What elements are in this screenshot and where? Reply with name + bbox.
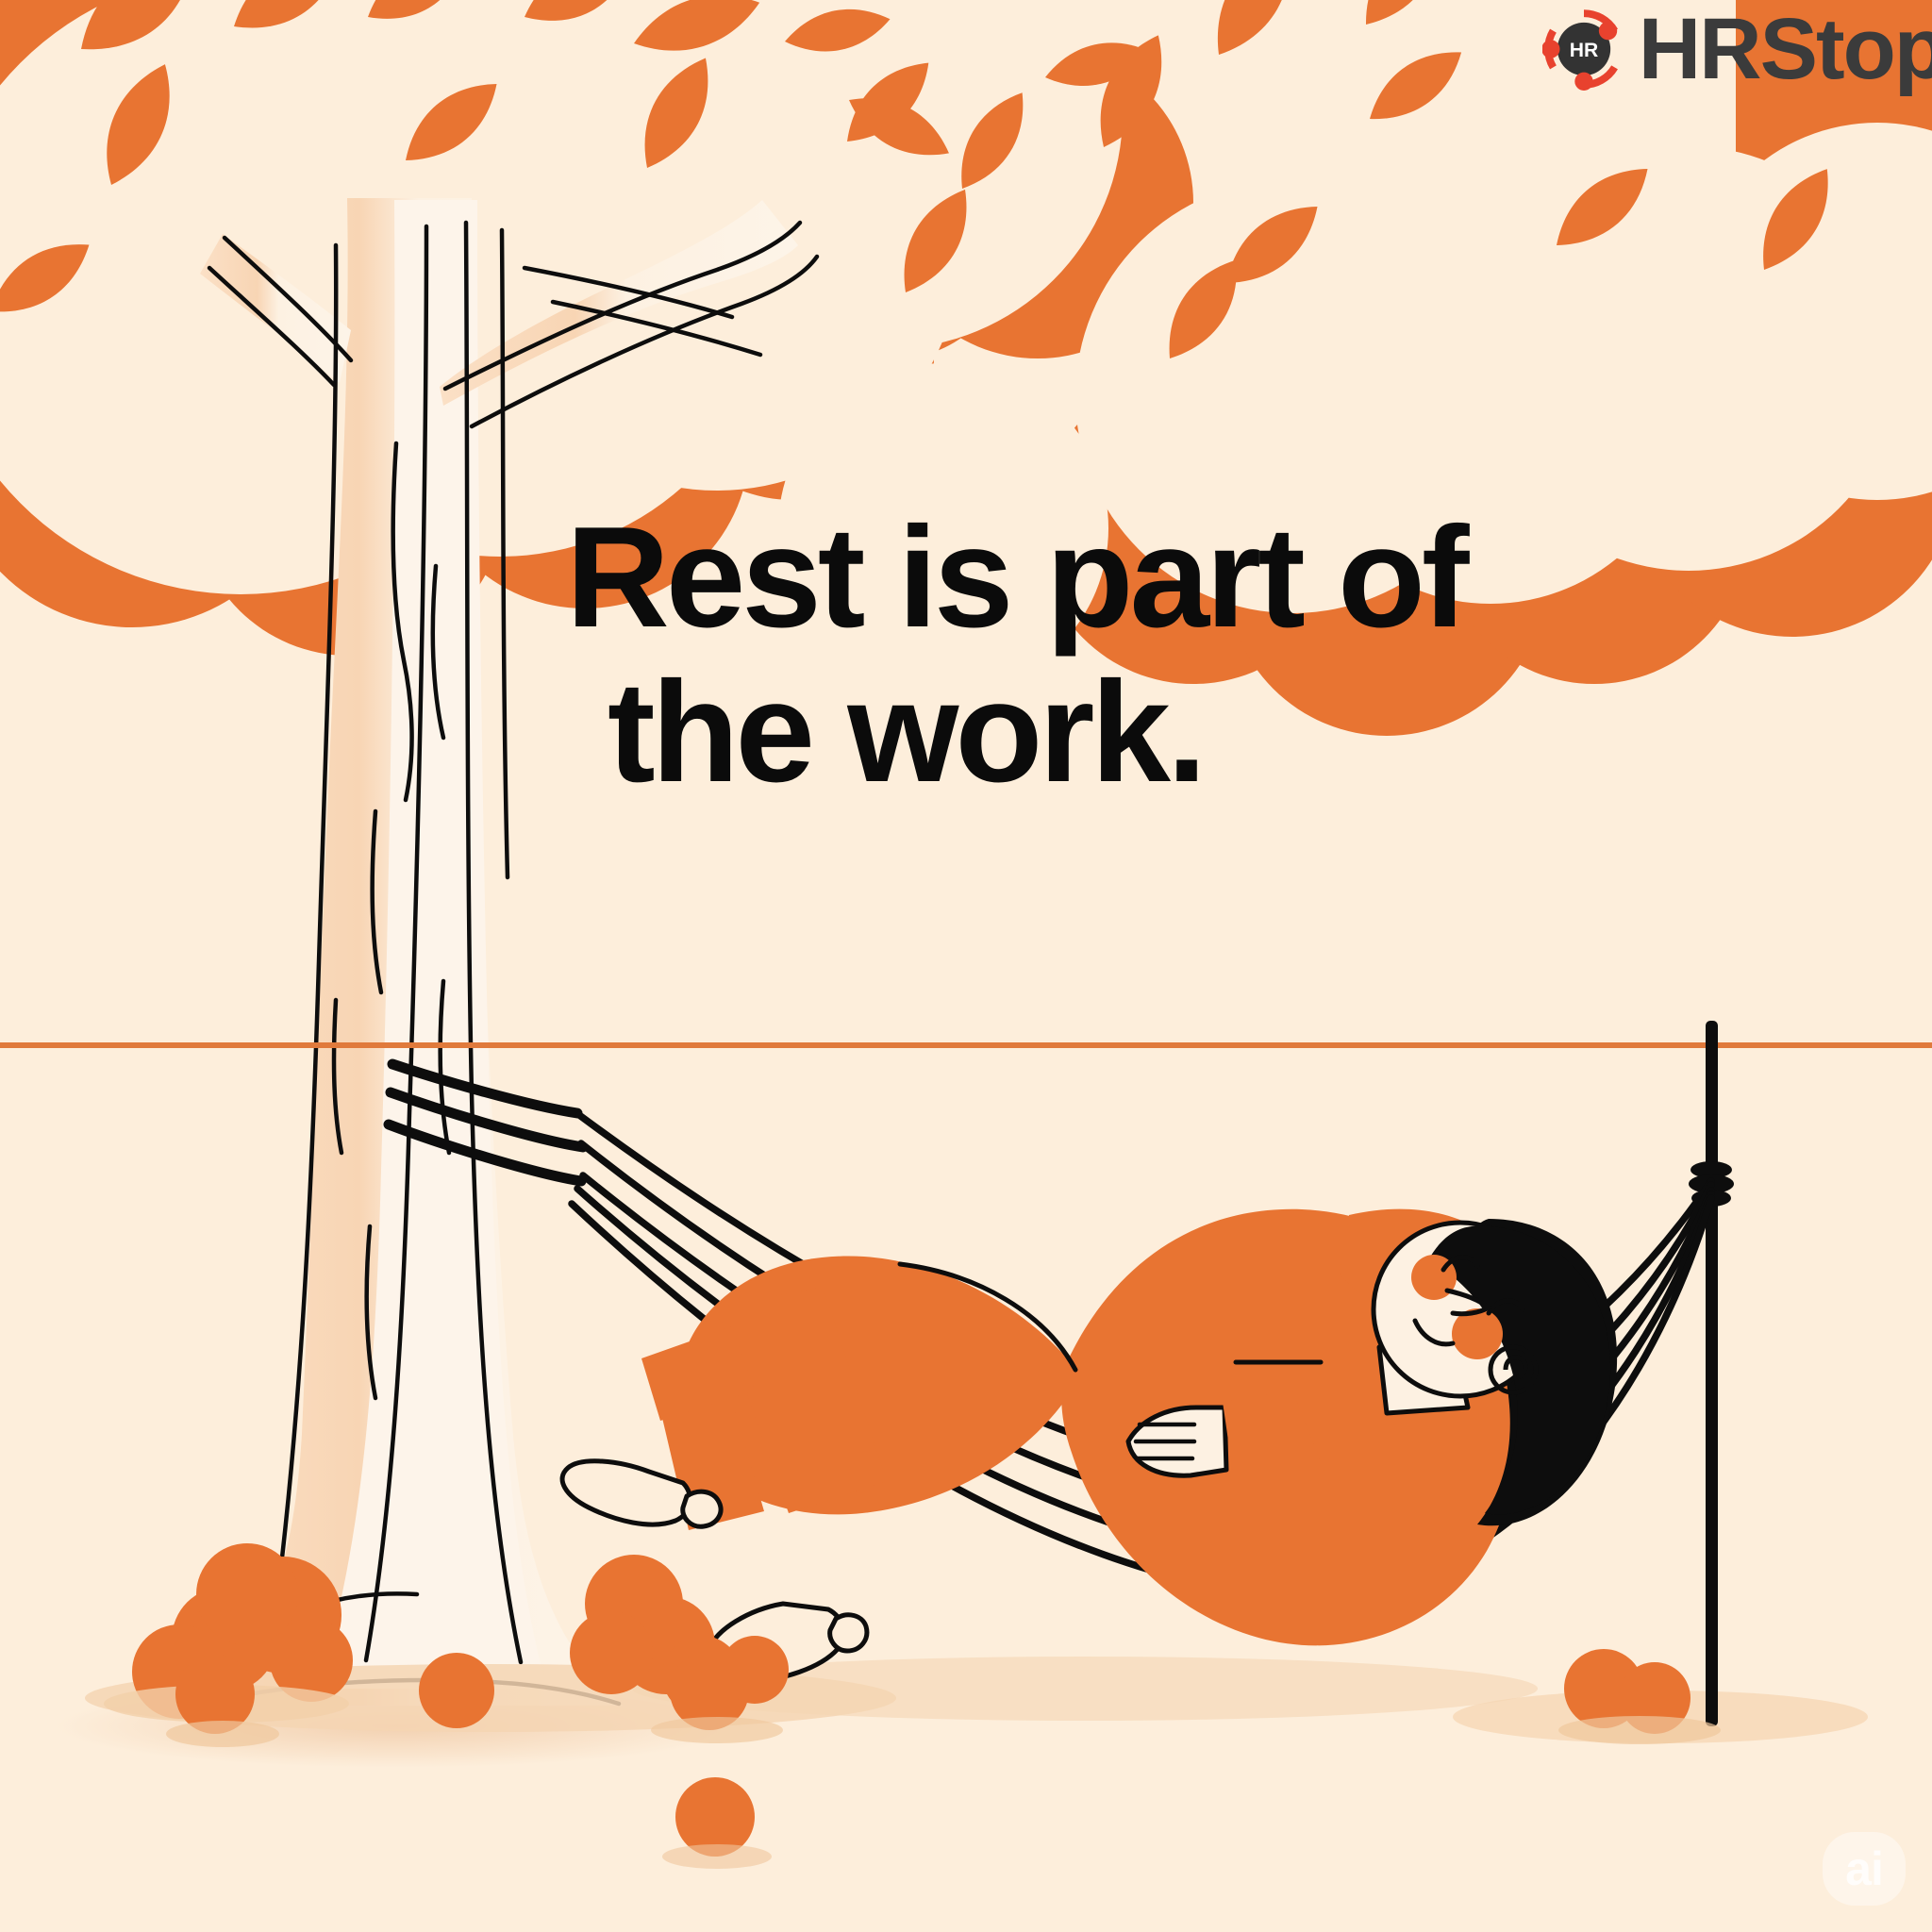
logo-monogram-text: HR [1569,40,1598,61]
hrstop-logo-mark: HR [1542,8,1625,91]
poster-canvas: HR HRStop Rest is part of the work. ai [0,0,1932,1932]
brand-logo[interactable]: HR HRStop [1542,6,1932,92]
fallen-orange [721,1636,789,1704]
ai-watermark-label: ai [1845,1845,1883,1892]
fallen-orange [419,1653,494,1728]
ai-watermark-badge: ai [1823,1832,1906,1906]
brand-name-text: HRStop [1639,6,1932,92]
hammock-rest-illustration [0,0,1932,1932]
